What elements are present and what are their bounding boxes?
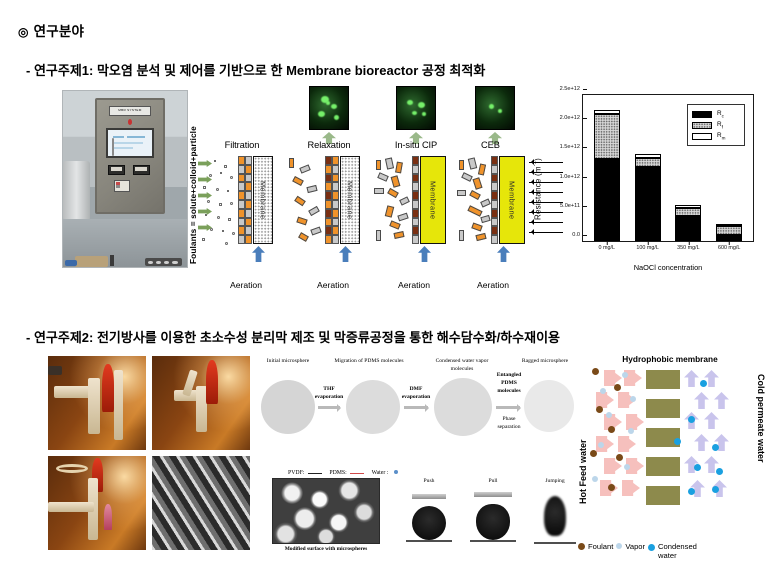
topic2-figure-row: Initial microsphere Migration of PDMS mo… bbox=[0, 350, 768, 570]
topic1-heading: - 연구주제1: 막오염 분석 및 제어를 기반으로 한 Membrane bi… bbox=[26, 60, 485, 79]
x-tick: 600 mg/L bbox=[718, 241, 740, 251]
sphere-initial bbox=[261, 380, 315, 434]
control-cabinet: MBR SYSTEM bbox=[95, 98, 164, 214]
bar-group bbox=[675, 205, 701, 241]
droplet-behaviour-row: Modified surface with microspheres Push … bbox=[258, 472, 576, 564]
y-tick: 1.5e+12 bbox=[560, 144, 583, 150]
vapor-dot bbox=[630, 396, 636, 402]
foulant-dot bbox=[608, 426, 615, 433]
legend-label: Rf bbox=[717, 121, 723, 129]
vapor-dot bbox=[592, 476, 598, 482]
floor-area bbox=[63, 219, 187, 267]
foulant-dot bbox=[608, 484, 615, 491]
membrane-slab bbox=[646, 399, 680, 418]
condensed-dot bbox=[712, 444, 719, 451]
feed-flow-arrow bbox=[622, 480, 640, 496]
bar-segment-rc bbox=[635, 167, 661, 241]
md-legend-vapor: Vapor bbox=[616, 542, 645, 551]
permeate-flow-arrow bbox=[684, 370, 699, 387]
permeate-flow-arrow bbox=[694, 392, 709, 409]
pipe-object bbox=[110, 255, 114, 266]
droplet-push: Push bbox=[400, 478, 458, 558]
electrospinning-photo-collage bbox=[47, 355, 254, 553]
membrane-stack: Membrane bbox=[200, 156, 284, 244]
condensed-dot bbox=[712, 486, 719, 493]
arrow-label-dmf: DMF evaporation bbox=[398, 386, 434, 402]
aeration-label: Aeration bbox=[384, 280, 444, 290]
membrane-label: Membrane bbox=[259, 181, 268, 220]
confocal-image-ceb bbox=[475, 86, 515, 130]
sem-nanofiber-image bbox=[151, 455, 251, 551]
droplet-jumping: Jumping bbox=[526, 478, 584, 558]
aeration-arrow-icon bbox=[339, 246, 352, 262]
droplet-label: Jumping bbox=[526, 478, 584, 484]
membrane-label: Membrane bbox=[508, 181, 517, 220]
foulants-label: Foulants = solute+colloid+particle bbox=[188, 104, 198, 264]
arrow-label-phase-sep: Phase separation bbox=[492, 416, 526, 432]
membrane-layer: Membrane bbox=[420, 156, 446, 244]
arrow-label-entangled: Entangled PDMS molecules bbox=[492, 372, 526, 395]
membrane-stack: Membrane bbox=[374, 156, 458, 244]
foulant-dot bbox=[596, 406, 603, 413]
legend-label: Rc bbox=[717, 110, 724, 118]
condensed-dot bbox=[688, 416, 695, 423]
step-caption-2: Migration of PDMS molecules bbox=[334, 358, 404, 366]
md-legend: Foulant Vapor Condensed water bbox=[578, 542, 766, 560]
membrane-layer: Membrane bbox=[499, 156, 525, 244]
vapor-dot bbox=[598, 442, 604, 448]
legend-swatch bbox=[692, 111, 712, 118]
vapor-dot bbox=[622, 372, 628, 378]
panel-insitu-cip: In-situ CIP Membrane Aeration bbox=[374, 86, 458, 272]
foulant-swatch bbox=[578, 543, 585, 550]
legend-swatch bbox=[692, 122, 712, 129]
sem-microsphere-surface bbox=[272, 478, 380, 544]
process-arrow-3 bbox=[496, 406, 520, 409]
step-caption-3: Condensed water vapor molecules bbox=[424, 358, 500, 373]
feed-flow-arrow bbox=[618, 436, 636, 452]
blue-container bbox=[65, 260, 76, 266]
membrane-label: Membrane bbox=[429, 181, 438, 220]
x-tick: 100 mg/L bbox=[636, 241, 658, 251]
sphere-condensed bbox=[434, 378, 492, 436]
permeate-flow-arrow bbox=[704, 412, 719, 429]
membrane-stack: Membrane bbox=[287, 156, 371, 244]
y-tick: 0.0 bbox=[572, 232, 583, 238]
y-tick: 5.0e+11 bbox=[560, 203, 583, 209]
photo-electrospinning-2 bbox=[151, 355, 251, 451]
foulant-dot bbox=[616, 454, 623, 461]
membrane-layer: Membrane bbox=[340, 156, 360, 244]
condensed-dot bbox=[674, 438, 681, 445]
digital-meter bbox=[133, 165, 150, 175]
chart-x-axis-label: NaOCl concentration bbox=[582, 263, 754, 272]
mbr-system-photo: MBR SYSTEM bbox=[62, 90, 188, 268]
bullet-icon: ◎ bbox=[18, 25, 29, 39]
y-tick: 2.0e+12 bbox=[560, 115, 583, 121]
aeration-arrow-icon bbox=[418, 246, 431, 262]
sack-object bbox=[75, 256, 107, 266]
vapor-dot bbox=[606, 412, 612, 418]
aeration-arrow-icon bbox=[497, 246, 510, 262]
foulant-dot bbox=[614, 384, 621, 391]
md-legend-label: Vapor bbox=[625, 542, 645, 551]
process-arrow-1 bbox=[318, 406, 340, 409]
switch-block bbox=[114, 180, 130, 192]
step-caption-1: Initial microsphere bbox=[258, 358, 318, 366]
digital-meter bbox=[108, 165, 125, 175]
bar-segment-rf bbox=[675, 208, 701, 217]
topic1-figure-row: MBR SYSTEM Foulants = solute+colloid+par… bbox=[0, 86, 768, 281]
step-caption-4: Ragged microsphere bbox=[516, 358, 574, 366]
bar-group bbox=[635, 154, 661, 241]
arrow-label-thf: THF evaporation bbox=[312, 386, 346, 402]
aeration-label: Aeration bbox=[216, 280, 276, 290]
panel-title: Filtration bbox=[200, 140, 284, 150]
sphere-pdms-migrated bbox=[346, 380, 400, 434]
membrane-layer: Membrane bbox=[253, 156, 273, 244]
chart-legend: Rc Rf Rm bbox=[687, 104, 745, 146]
legend-item-rc: Rc bbox=[692, 109, 740, 120]
vapor-swatch bbox=[616, 543, 622, 549]
membrane-label: Membrane bbox=[346, 181, 355, 220]
md-right-label: Cold permeate water bbox=[756, 374, 766, 524]
panel-ceb: CEB Membrane bbox=[457, 86, 541, 272]
membrane-slab bbox=[646, 370, 680, 389]
page-title: ◎연구분야 bbox=[18, 20, 84, 40]
sem-caption: Modified surface with microspheres bbox=[260, 546, 392, 552]
photo-electrospinning-1 bbox=[47, 355, 147, 451]
condensed-dot bbox=[716, 468, 723, 475]
vapor-dot bbox=[600, 388, 606, 394]
membrane-slab bbox=[646, 486, 680, 505]
vapor-dot bbox=[628, 428, 634, 434]
panel-title: CEB bbox=[457, 140, 541, 150]
cabinet-handle bbox=[112, 138, 114, 156]
condensed-dot bbox=[694, 464, 701, 471]
legend-item-rm: Rm bbox=[692, 131, 740, 142]
membrane-slab bbox=[646, 457, 680, 476]
md-title: Hydrophobic membrane bbox=[600, 354, 740, 364]
panel-title: In-situ CIP bbox=[374, 140, 458, 150]
aeration-label: Aeration bbox=[463, 280, 523, 290]
confocal-image-relaxation bbox=[309, 86, 349, 130]
droplet-label: Push bbox=[400, 478, 458, 484]
resistance-bar-chart: Resistance (m-1) 0.0 5.0e+11 1.0e+12 1.5… bbox=[530, 88, 762, 278]
legend-item-rf: Rf bbox=[692, 120, 740, 131]
bar-segment-rf bbox=[635, 158, 661, 167]
pump-unit bbox=[145, 258, 182, 266]
md-legend-label: Condensed water bbox=[658, 542, 714, 560]
legend-swatch bbox=[692, 133, 712, 140]
bar-segment-rf bbox=[716, 226, 742, 234]
bar-segment-rf bbox=[594, 114, 620, 159]
legend-label: Rm bbox=[717, 132, 725, 140]
tank-shape bbox=[63, 161, 90, 221]
chart-plot-area: 0.0 5.0e+11 1.0e+12 1.5e+12 2.0e+12 2.5e… bbox=[582, 94, 754, 242]
panel-title: Relaxation bbox=[287, 140, 371, 150]
chart-y-axis-label: Resistance (m-1) bbox=[532, 102, 543, 220]
x-tick: 350 mg/L bbox=[677, 241, 699, 251]
md-legend-condensed: Condensed water bbox=[648, 542, 714, 560]
y-tick: 2.5e+12 bbox=[560, 86, 583, 92]
x-tick: 0 mg/L bbox=[599, 241, 615, 251]
process-arrow-2 bbox=[404, 406, 428, 409]
topic2-heading: - 연구주제2: 전기방사를 이용한 초소수성 분리막 제조 및 막증류공정을 … bbox=[26, 327, 560, 346]
md-legend-foulant: Foulant bbox=[578, 542, 613, 551]
foulant-dot bbox=[592, 368, 599, 375]
bar-segment-rc bbox=[675, 216, 701, 241]
aeration-label: Aeration bbox=[303, 280, 363, 290]
bar-segment-rc bbox=[716, 235, 742, 241]
droplet-label: Pull bbox=[464, 478, 522, 484]
microsphere-formation-mechanism: Initial microsphere Migration of PDMS mo… bbox=[258, 358, 576, 470]
vapor-dot bbox=[624, 464, 630, 470]
bar-group bbox=[716, 224, 742, 241]
indicator-lamp-icon bbox=[128, 119, 132, 125]
panel-tag-label: MBR SYSTEM bbox=[109, 106, 151, 116]
y-tick: 1.0e+12 bbox=[560, 174, 583, 180]
foulant-dot bbox=[590, 450, 597, 457]
md-left-label: Hot Feed water bbox=[578, 374, 588, 504]
panel-filtration: Filtration bbox=[200, 86, 284, 272]
permeate-flow-arrow bbox=[714, 392, 729, 409]
permeate-flow-arrow bbox=[694, 434, 709, 451]
photo-electrospinning-3 bbox=[47, 455, 147, 551]
bar-segment-rc bbox=[594, 159, 620, 241]
membrane-distillation-diagram: Hydrophobic membrane Hot Feed water Cold… bbox=[578, 354, 766, 562]
condensed-dot bbox=[688, 488, 695, 495]
aeration-arrow-icon bbox=[252, 246, 265, 262]
droplet-pull: Pull bbox=[464, 478, 522, 558]
condensed-swatch bbox=[648, 544, 655, 551]
md-legend-label: Foulant bbox=[588, 542, 613, 551]
bar-group bbox=[594, 110, 620, 241]
sphere-ragged bbox=[524, 380, 574, 432]
condensed-dot bbox=[700, 380, 707, 387]
page-title-text: 연구분야 bbox=[34, 24, 84, 39]
confocal-image-cip bbox=[396, 86, 436, 130]
panel-relaxation: Relaxation Membrane Aeration bbox=[287, 86, 371, 272]
